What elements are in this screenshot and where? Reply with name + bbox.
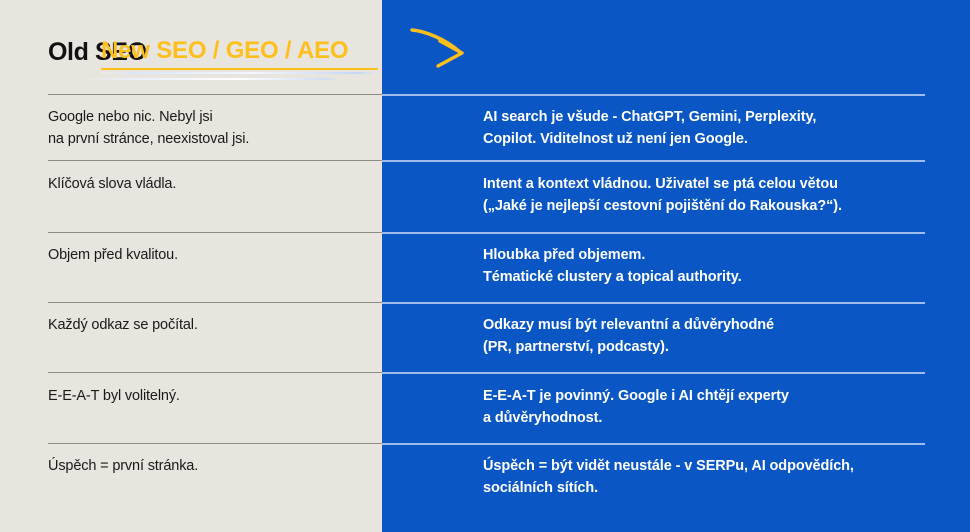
table-row-left-2: Klíčová slova vládla.	[48, 173, 374, 195]
table-row-left-4: Každý odkaz se počítal.	[48, 314, 374, 336]
row-line: a důvěryhodnost.	[483, 407, 953, 429]
row-divider-right-4	[382, 302, 925, 304]
row-divider-left-4	[48, 302, 382, 303]
row-divider-left-3	[48, 232, 382, 233]
table-row-left-5: E-E-A-T byl volitelný.	[48, 385, 374, 407]
row-line: Každý odkaz se počítal.	[48, 314, 374, 336]
row-line: Úspěch = první stránka.	[48, 455, 374, 477]
row-divider-left-5	[48, 372, 382, 373]
row-line: Google nebo nic. Nebyl jsi	[48, 106, 374, 128]
curved-arrow-right-icon	[408, 24, 474, 72]
heading-swoosh-upper	[101, 72, 379, 74]
row-divider-right-2	[382, 160, 925, 162]
table-row-right-4: Odkazy musí být relevantní a důvěryhodné…	[483, 314, 953, 359]
new-seo-heading-wrap: New SEO / GEO / AEO	[101, 38, 348, 63]
table-row-right-6: Úspěch = být vidět neustále - v SERPu, A…	[483, 455, 953, 500]
table-row-left-6: Úspěch = první stránka.	[48, 455, 374, 477]
row-line: (PR, partnerství, podcasty).	[483, 336, 953, 358]
heading-underline-yellow	[101, 68, 378, 70]
row-line: sociálních sítích.	[483, 477, 953, 499]
row-divider-right-1	[382, 94, 925, 96]
heading-swoosh-lower	[86, 78, 340, 80]
row-line: Intent a kontext vládnou. Uživatel se pt…	[483, 173, 953, 195]
row-line: AI search je všude - ChatGPT, Gemini, Pe…	[483, 106, 953, 128]
row-line: Tématické clustery a topical authority.	[483, 266, 953, 288]
row-divider-left-6	[48, 443, 382, 444]
row-line: E-E-A-T byl volitelný.	[48, 385, 374, 407]
table-row-right-5: E-E-A-T je povinný. Google i AI chtějí e…	[483, 385, 953, 430]
row-line: na první stránce, neexistoval jsi.	[48, 128, 374, 150]
row-divider-right-5	[382, 372, 925, 374]
row-line: Objem před kvalitou.	[48, 244, 374, 266]
row-divider-right-3	[382, 232, 925, 234]
row-divider-right-6	[382, 443, 925, 445]
table-row-left-1: Google nebo nic. Nebyl jsi na první strá…	[48, 106, 374, 151]
row-line: Úspěch = být vidět neustále - v SERPu, A…	[483, 455, 953, 477]
row-divider-left-2	[48, 160, 382, 161]
table-row-right-2: Intent a kontext vládnou. Uživatel se pt…	[483, 173, 953, 218]
row-line: E-E-A-T je povinný. Google i AI chtějí e…	[483, 385, 953, 407]
table-row-right-1: AI search je všude - ChatGPT, Gemini, Pe…	[483, 106, 953, 151]
row-line: („Jaké je nejlepší cestovní pojištění do…	[483, 195, 953, 217]
row-divider-left-1	[48, 94, 382, 95]
row-line: Odkazy musí být relevantní a důvěryhodné	[483, 314, 953, 336]
new-seo-heading: New SEO / GEO / AEO	[101, 38, 348, 63]
table-row-right-3: Hloubka před objemem. Tématické clustery…	[483, 244, 953, 289]
row-line: Klíčová slova vládla.	[48, 173, 374, 195]
row-line: Copilot. Viditelnost už není jen Google.	[483, 128, 953, 150]
table-row-left-3: Objem před kvalitou.	[48, 244, 374, 266]
row-line: Hloubka před objemem.	[483, 244, 953, 266]
seo-comparison-slide: Old SEO New SEO / GEO / AEO Google nebo …	[0, 0, 970, 532]
